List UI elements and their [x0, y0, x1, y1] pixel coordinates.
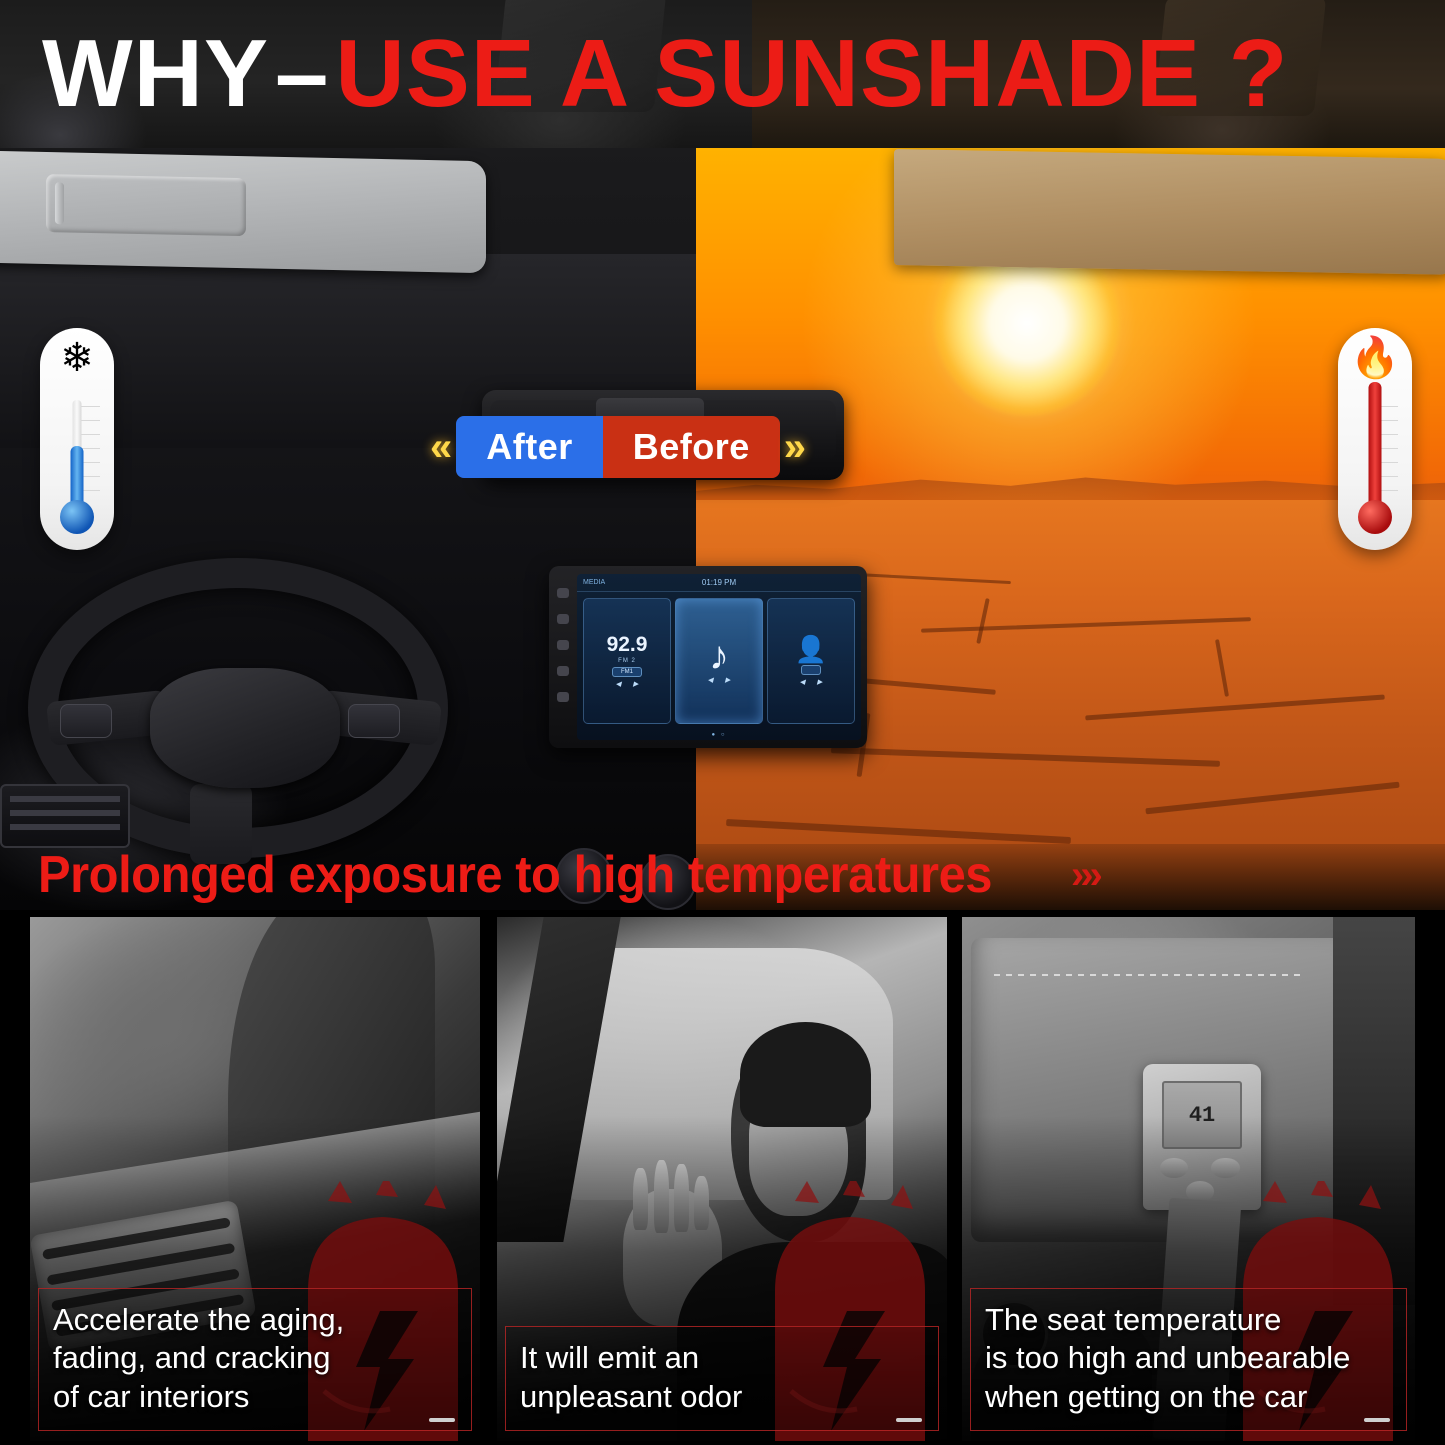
person-hair-shape — [740, 1022, 871, 1127]
power-button-icon[interactable] — [557, 588, 569, 598]
section-banner-text: Prolonged exposure to high temperatures — [38, 845, 992, 905]
screen-tiles: 92.9 FM 2 FM1 ◀ ▶ ♪ ◀ ▶ — [577, 592, 861, 730]
card-unpleasant-odor: It will emit an unpleasant odor — [497, 917, 947, 1441]
caption-box-2: It will emit an unpleasant odor — [505, 1326, 939, 1431]
header-banner: WHY – USE A SUNSHADE ? — [0, 0, 1445, 148]
caption-box-1: Accelerate the aging, fading, and cracki… — [38, 1288, 472, 1431]
radio-tile[interactable]: 92.9 FM 2 FM1 ◀ ▶ — [583, 598, 671, 724]
caption-dash-icon — [1364, 1418, 1390, 1422]
person-icon: 👤 — [795, 636, 827, 662]
section-banner: Prolonged exposure to high temperatures … — [0, 836, 1445, 914]
caption-dash-icon — [429, 1418, 455, 1422]
media-tile[interactable]: ♪ ◀ ▶ — [675, 598, 763, 724]
profile-tile[interactable]: 👤 ◀ ▶ — [767, 598, 855, 724]
speaker-button-icon[interactable] — [557, 640, 569, 650]
sun-visor-mirror-left — [46, 174, 246, 236]
seat-stitching — [994, 974, 1306, 976]
page-title-red: USE A SUNSHADE ? — [335, 26, 1288, 122]
hero-comparison: WARNING — [0, 148, 1445, 910]
consequence-cards: Accelerate the aging, fading, and cracki… — [0, 912, 1445, 1445]
volume-button-icon[interactable] — [557, 614, 569, 624]
before-badge[interactable]: Before — [603, 416, 780, 478]
banner-chevrons-icon: ››› — [1071, 853, 1099, 898]
before-after-toggle[interactable]: « After Before » — [430, 416, 806, 478]
radio-frequency: 92.9 — [607, 634, 648, 655]
profile-chip[interactable] — [801, 665, 821, 675]
radio-preset[interactable]: FM1 — [612, 667, 642, 677]
after-badge[interactable]: After — [456, 416, 603, 478]
screen-clock: 01:19 PM — [702, 578, 736, 587]
music-note-icon: ♪ — [709, 639, 729, 673]
screen-source-label: MEDIA — [583, 579, 605, 586]
card-interior-aging: Accelerate the aging, fading, and cracki… — [30, 917, 480, 1441]
snowflake-icon: ❄ — [40, 338, 114, 378]
screen-pager[interactable]: ● ○ — [712, 732, 727, 738]
caption-box-3: The seat temperature is too high and unb… — [970, 1288, 1407, 1431]
head-unit-side-buttons[interactable] — [557, 588, 569, 702]
media-controls[interactable]: ◀ ▶ — [708, 676, 731, 684]
radio-next-icon[interactable]: ▶ — [633, 680, 638, 688]
steering-wheel-hub — [150, 668, 340, 788]
thermometer-hot: 🔥 — [1338, 328, 1412, 550]
screen-status-bar: MEDIA 01:19 PM — [577, 574, 861, 592]
card-caption: Accelerate the aging, fading, and cracki… — [53, 1301, 457, 1416]
card-caption: It will emit an unpleasant odor — [520, 1339, 924, 1416]
steering-button-left — [60, 704, 112, 738]
thermometer-hot-bulb — [1358, 500, 1392, 534]
thermometer-cold: ❄ — [40, 328, 114, 550]
infotainment-head-unit[interactable]: MEDIA 01:19 PM 92.9 FM 2 FM1 ◀ ▶ ♪ — [549, 566, 867, 748]
media-next-icon[interactable]: ▶ — [725, 676, 730, 684]
flame-icon: 🔥 — [1338, 338, 1412, 378]
infographic-page: WHY – USE A SUNSHADE ? — [0, 0, 1445, 1445]
media-prev-icon[interactable]: ◀ — [708, 676, 713, 684]
card-seat-temperature: 41 The seat temperature is too hig — [962, 917, 1415, 1441]
page-title: WHY – USE A SUNSHADE ? — [0, 0, 1445, 148]
sun-visor-right — [894, 149, 1445, 275]
radio-prev-icon[interactable]: ◀ — [616, 680, 621, 688]
profile-controls[interactable]: ◀ ▶ — [800, 678, 823, 686]
page-title-dash: – — [269, 26, 335, 122]
steering-button-right — [348, 704, 400, 738]
radio-band: FM 2 — [618, 658, 636, 664]
sun-visor-left — [0, 151, 486, 273]
chevron-right-icon: » — [784, 427, 806, 467]
card-caption: The seat temperature is too high and unb… — [985, 1301, 1392, 1416]
chevron-left-icon: « — [430, 427, 452, 467]
home-button-icon[interactable] — [557, 666, 569, 676]
menu-button-icon[interactable] — [557, 692, 569, 702]
caption-dash-icon — [896, 1418, 922, 1422]
profile-prev-icon[interactable]: ◀ — [800, 678, 805, 686]
thermometer-cold-mercury — [71, 446, 84, 508]
infotainment-screen[interactable]: MEDIA 01:19 PM 92.9 FM 2 FM1 ◀ ▶ ♪ — [577, 574, 861, 740]
profile-next-icon[interactable]: ▶ — [817, 678, 822, 686]
page-title-white: WHY — [42, 26, 269, 122]
hero-half-before: WARNING — [696, 148, 1445, 910]
thermometer-hot-mercury — [1369, 382, 1382, 508]
thermometer-cold-bulb — [60, 500, 94, 534]
radio-controls[interactable]: ◀ ▶ — [616, 680, 639, 688]
